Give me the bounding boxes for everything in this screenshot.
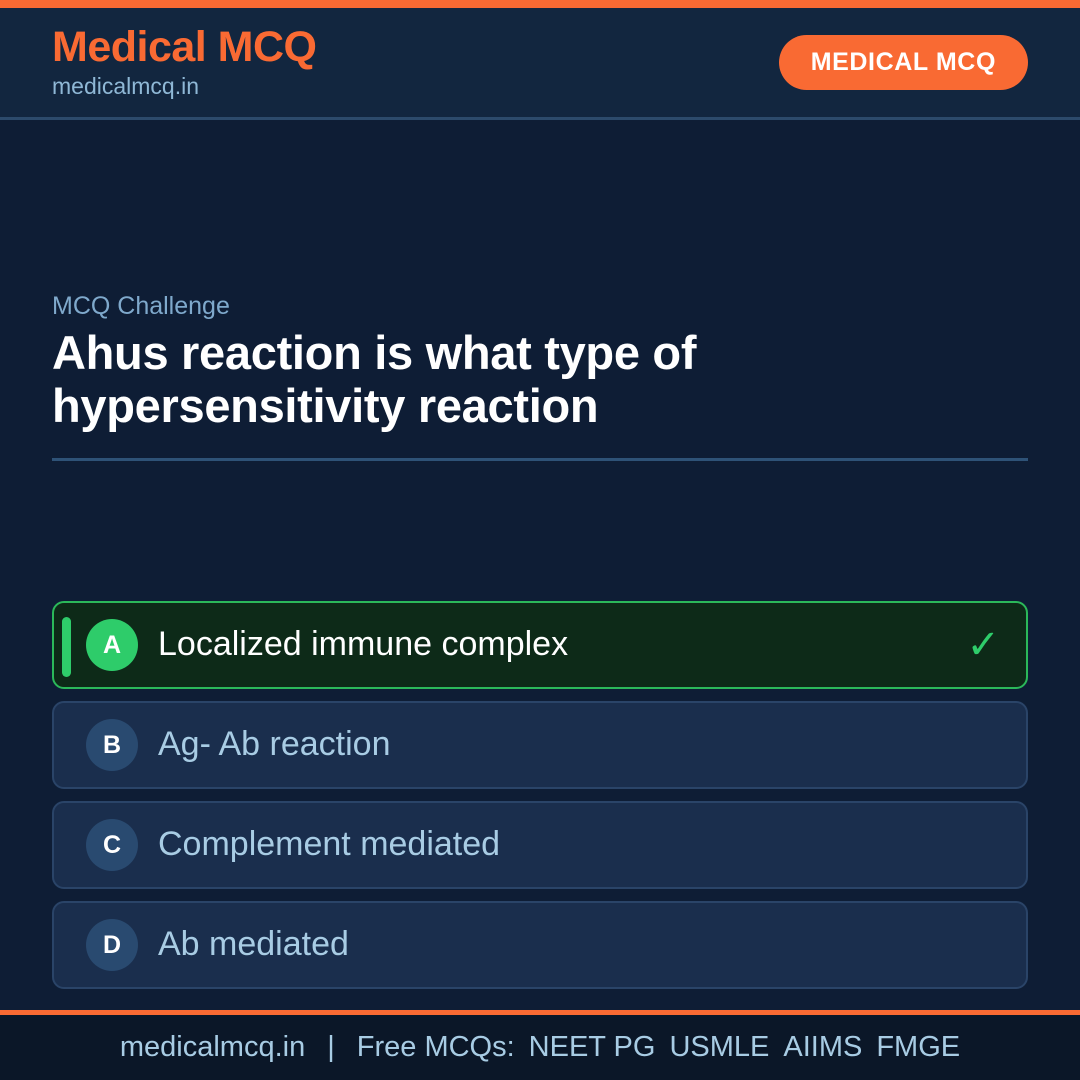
question-text: Ahus reaction is what type of hypersensi… [52,327,1028,432]
brand-badge: MEDICAL MCQ [779,35,1028,90]
option-text-b: Ag- Ab reaction [158,725,1000,764]
footer-separator: | [327,1031,335,1064]
correct-accent-bar [62,617,71,677]
options-list: A Localized immune complex ✓ B Ag- Ab re… [52,601,1028,1001]
page-footer: medicalmcq.in | Free MCQs: NEET PG USMLE… [0,1010,1080,1080]
footer-label: Free MCQs: [357,1031,515,1064]
footer-inner: medicalmcq.in | Free MCQs: NEET PG USMLE… [120,1031,960,1064]
option-letter-b: B [86,719,138,771]
question-divider [52,458,1028,461]
question-kicker: MCQ Challenge [52,291,1028,321]
check-icon: ✓ [966,625,1000,665]
footer-exam-aiims[interactable]: AIIMS [783,1031,862,1064]
footer-exam-neet-pg[interactable]: NEET PG [529,1031,656,1064]
footer-exam-fmge[interactable]: FMGE [876,1031,960,1064]
option-row-d[interactable]: D Ab mediated [52,901,1028,989]
brand-block: Medical MCQ medicalmcq.in [52,25,317,99]
main-content: MCQ Challenge Ahus reaction is what type… [0,123,1080,1010]
brand-title: Medical MCQ [52,25,317,70]
top-accent-bar [0,0,1080,8]
footer-site-link[interactable]: medicalmcq.in [120,1031,305,1064]
option-row-a[interactable]: A Localized immune complex ✓ [52,601,1028,689]
option-letter-d: D [86,919,138,971]
footer-exam-usmle[interactable]: USMLE [669,1031,769,1064]
question-zone: MCQ Challenge Ahus reaction is what type… [52,291,1028,461]
option-text-c: Complement mediated [158,825,1000,864]
option-text-a: Localized immune complex [158,625,950,664]
brand-subtitle: medicalmcq.in [52,74,317,99]
option-row-b[interactable]: B Ag- Ab reaction [52,701,1028,789]
page-header: Medical MCQ medicalmcq.in MEDICAL MCQ [0,8,1080,120]
option-letter-c: C [86,819,138,871]
option-row-c[interactable]: C Complement mediated [52,801,1028,889]
option-text-d: Ab mediated [158,925,1000,964]
option-letter-a: A [86,619,138,671]
